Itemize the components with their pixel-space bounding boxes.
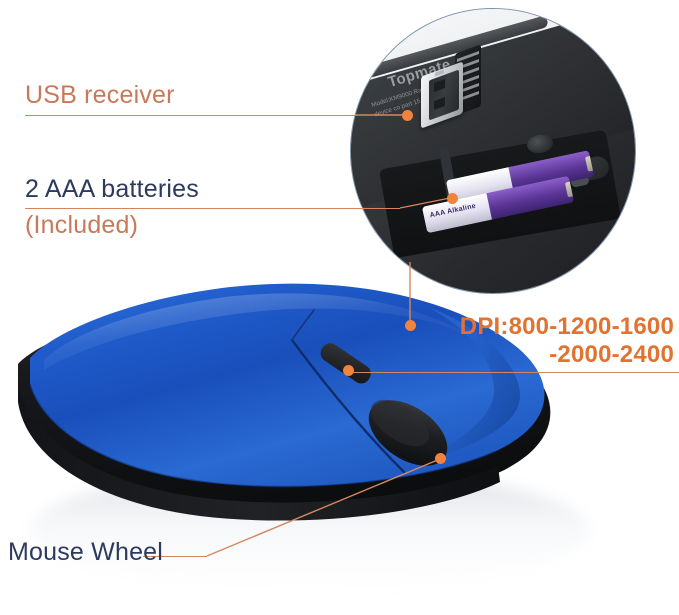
- mouse-wheel-label: Mouse Wheel: [8, 538, 163, 567]
- dpi-marker-dot: [405, 320, 416, 331]
- usb-marker-dot: [402, 110, 413, 121]
- infographic-canvas: Topmate Model:KM9000 Rating:3V ⎓ 1DC Thi…: [0, 0, 679, 615]
- wireless-mouse-illustration: [0, 268, 600, 548]
- battery-marker-dot: [447, 193, 458, 204]
- usb-underline: [25, 115, 355, 116]
- dpi-label-line2: -2000-2400: [549, 341, 674, 368]
- dpi-label-line1: DPI:800-1200-1600: [460, 313, 674, 340]
- battery-underline: [25, 208, 400, 209]
- batteries-included-label: (Included): [25, 211, 138, 240]
- usb-receiver-label: USB receiver: [25, 81, 175, 110]
- dpi-button-marker-dot: [343, 365, 354, 376]
- inset-photo-circle: Topmate Model:KM9000 Rating:3V ⎓ 1DC Thi…: [350, 8, 636, 294]
- batteries-label: 2 AAA batteries: [25, 175, 199, 204]
- scroll-wheel-marker-dot: [435, 453, 446, 464]
- dpi-label: DPI:800-1200-1600-2000-2400: [460, 313, 674, 370]
- dpi-underline: [348, 372, 679, 373]
